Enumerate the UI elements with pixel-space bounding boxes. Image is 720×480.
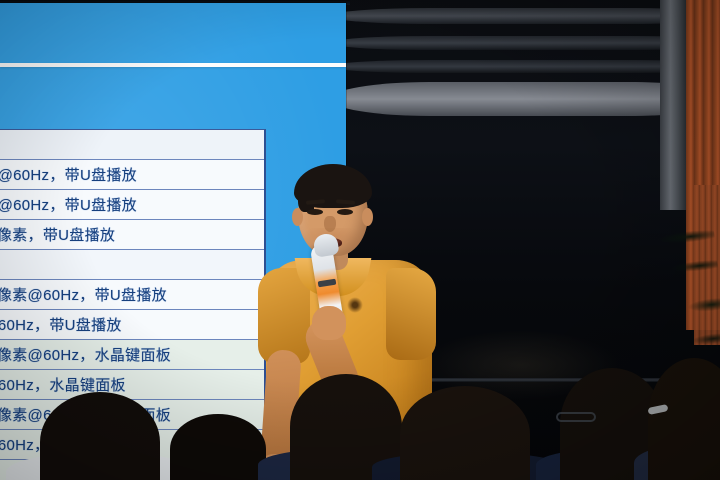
table-row: 像素@60Hz，带U盘播放	[0, 190, 264, 220]
shirt-sleeve-right	[386, 268, 436, 360]
plant-foliage	[650, 212, 720, 368]
presentation-photo-scene: 明 像素@60Hz，带U盘播放 像素@60Hz，带U盘播放 0万像素，带U盘播放…	[0, 0, 720, 480]
table-row: 素@60Hz，水晶键面板	[0, 370, 264, 400]
nose	[324, 216, 336, 232]
table-header-cell: 明	[0, 130, 264, 160]
shirt-logo	[346, 296, 364, 314]
hand-right	[312, 306, 346, 340]
table-row: 素@60Hz，带U盘播放	[0, 310, 264, 340]
table-row	[0, 250, 264, 280]
eye-left	[307, 209, 323, 215]
ear-right	[362, 208, 373, 226]
table-row: 像素@60Hz，带U盘播放	[0, 160, 264, 190]
audience-head	[400, 386, 530, 480]
audience-head	[170, 414, 266, 480]
table-row: 0万像素@60Hz，水晶键面板	[0, 340, 264, 370]
eyeglasses	[556, 412, 596, 422]
slide-divider-line	[0, 63, 346, 67]
table-row: 0万像素@60Hz，带U盘播放	[0, 280, 264, 310]
table-row: 0万像素，带U盘播放	[0, 220, 264, 250]
metal-column	[660, 0, 686, 210]
eye-right	[337, 209, 353, 215]
